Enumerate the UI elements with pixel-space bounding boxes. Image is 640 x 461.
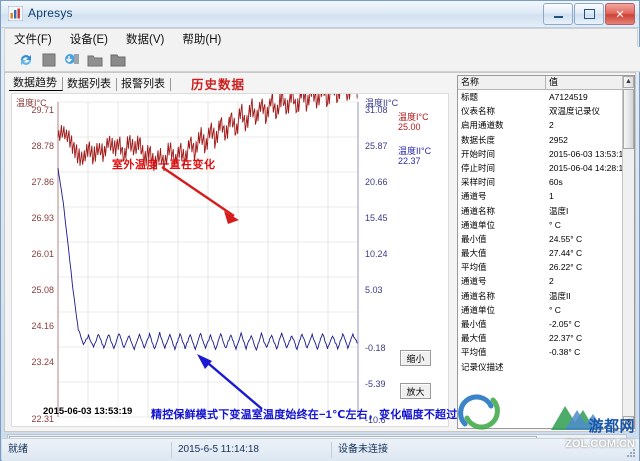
status-datetime: 2015-6-5 11:14:18 bbox=[172, 442, 332, 458]
table-row[interactable]: 通道号1 bbox=[458, 189, 634, 203]
window-title: Apresys bbox=[28, 6, 73, 20]
property-value: ° C bbox=[546, 303, 634, 317]
table-row[interactable]: 启用通道数2 bbox=[458, 118, 634, 132]
stop-icon[interactable] bbox=[34, 50, 52, 68]
property-name: 最小值 bbox=[458, 232, 546, 246]
property-value: 1 bbox=[546, 189, 634, 203]
property-value: 26.22° C bbox=[546, 260, 634, 274]
client-area: 数据趋势 数据列表 报警列表 历史数据 温度I°C 温度II°C 29.71 2… bbox=[4, 72, 636, 432]
menu-file[interactable]: 文件(F) bbox=[5, 29, 61, 49]
table-row[interactable]: 最大值27.44° C bbox=[458, 246, 634, 260]
property-value: 2 bbox=[546, 118, 634, 132]
table-row[interactable]: 数据长度2952 bbox=[458, 133, 634, 147]
close-button[interactable]: ✕ bbox=[605, 3, 635, 25]
menu-device[interactable]: 设备(E) bbox=[61, 29, 117, 49]
property-name: 停止时间 bbox=[458, 161, 546, 175]
property-value: 22.37° C bbox=[546, 331, 634, 345]
property-name: 通道号 bbox=[458, 189, 546, 203]
table-row[interactable]: 标题A7124519 bbox=[458, 90, 634, 104]
table-row[interactable]: 平均值26.22° C bbox=[458, 260, 634, 274]
property-value: 60s bbox=[546, 175, 634, 189]
property-grid-scrollbar[interactable]: ▲ ▼ bbox=[622, 76, 634, 428]
table-row[interactable]: 最大值22.37° C bbox=[458, 331, 634, 345]
minimize-icon bbox=[544, 4, 572, 24]
status-bar: 就绪 2015-6-5 11:14:18 设备未连接 bbox=[2, 438, 639, 461]
table-row[interactable]: 记录仪描述 bbox=[458, 360, 634, 374]
tab-data-trend[interactable]: 数据趋势 bbox=[9, 77, 63, 91]
property-grid-rows: 标题A7124519仪表名称双温度记录仪启用通道数2数据长度2952开始时间20… bbox=[458, 90, 634, 374]
property-name: 仪表名称 bbox=[458, 104, 546, 118]
status-ready: 就绪 bbox=[2, 442, 172, 458]
title-bar: Apresys ✕ bbox=[1, 1, 639, 28]
page-title: 历史数据 bbox=[191, 74, 245, 93]
property-grid[interactable]: 名称 值 标题A7124519仪表名称双温度记录仪启用通道数2数据长度2952开… bbox=[457, 75, 635, 429]
property-name: 平均值 bbox=[458, 260, 546, 274]
property-name: 最小值 bbox=[458, 317, 546, 331]
x-axis-start-timestamp: 2015-06-03 13:53:19 bbox=[43, 406, 132, 417]
property-name: 通道单位 bbox=[458, 303, 546, 317]
property-value: -2.05° C bbox=[546, 317, 634, 331]
table-row[interactable]: 通道单位° C bbox=[458, 218, 634, 232]
minimize-button[interactable] bbox=[543, 3, 573, 25]
column-header-value: 值 bbox=[546, 76, 634, 89]
property-value: 双温度记录仪 bbox=[546, 104, 634, 118]
property-name: 通道号 bbox=[458, 274, 546, 288]
property-name: 记录仪描述 bbox=[458, 360, 546, 374]
property-name: 通道名称 bbox=[458, 289, 546, 303]
tab-alarm-list[interactable]: 报警列表 bbox=[117, 78, 171, 91]
save-folder-icon[interactable] bbox=[103, 50, 121, 68]
column-header-name: 名称 bbox=[458, 76, 546, 89]
property-name: 最大值 bbox=[458, 331, 546, 345]
property-name: 启用通道数 bbox=[458, 118, 546, 132]
property-name: 数据长度 bbox=[458, 133, 546, 147]
tab-strip: 数据趋势 数据列表 报警列表 bbox=[9, 76, 171, 91]
watermark-brand: ZOL.COM.CN bbox=[565, 438, 635, 450]
chart-canvas[interactable]: 温度I°C 温度II°C 29.71 28.78 27.86 26.93 26.… bbox=[11, 93, 449, 427]
tab-data-list[interactable]: 数据列表 bbox=[63, 78, 117, 91]
table-row[interactable]: 通道单位° C bbox=[458, 303, 634, 317]
zoom-in-button[interactable]: 放大 bbox=[400, 383, 431, 399]
table-row[interactable]: 通道号2 bbox=[458, 274, 634, 288]
table-row[interactable]: 采样时间60s bbox=[458, 175, 634, 189]
watermark-text: 游都网 bbox=[588, 415, 635, 436]
chart-pane: 数据趋势 数据列表 报警列表 历史数据 温度I°C 温度II°C 29.71 2… bbox=[5, 73, 455, 431]
property-name: 通道单位 bbox=[458, 218, 546, 232]
table-row[interactable]: 最小值24.55° C bbox=[458, 232, 634, 246]
menu-bar: 文件(F) 设备(E) 数据(V) 帮助(H) bbox=[4, 28, 638, 48]
window-controls: ✕ bbox=[542, 3, 635, 24]
scrollbar-thumb[interactable] bbox=[623, 89, 634, 149]
annotation-red: 室外温度一直在变化 bbox=[112, 156, 216, 172]
property-value: 2015-06-03 13:53:19 bbox=[546, 147, 634, 161]
scroll-up-icon[interactable]: ▲ bbox=[623, 76, 634, 88]
table-row[interactable]: 开始时间2015-06-03 13:53:19 bbox=[458, 147, 634, 161]
property-value: -0.38° C bbox=[546, 345, 634, 359]
property-value: ° C bbox=[546, 218, 634, 232]
property-value: A7124519 bbox=[546, 90, 634, 104]
open-folder-icon[interactable] bbox=[80, 50, 98, 68]
annotation-blue: 精控保鲜模式下变温室温度始终在−1℃左右，变化幅度不超过0.5℃ bbox=[151, 406, 487, 422]
tool-bar bbox=[4, 47, 640, 72]
property-value: 2015-06-04 14:28:19 bbox=[546, 161, 634, 175]
maximize-icon bbox=[575, 4, 603, 24]
zoom-out-button[interactable]: 缩小 bbox=[400, 350, 431, 366]
menu-data[interactable]: 数据(V) bbox=[117, 29, 173, 49]
property-value: 温度II bbox=[546, 289, 634, 303]
property-name: 通道名称 bbox=[458, 204, 546, 218]
plot-area bbox=[12, 94, 448, 426]
property-name: 标题 bbox=[458, 90, 546, 104]
property-value bbox=[546, 360, 634, 374]
table-row[interactable]: 通道名称温度I bbox=[458, 204, 634, 218]
menu-help[interactable]: 帮助(H) bbox=[173, 29, 230, 49]
table-row[interactable]: 最小值-2.05° C bbox=[458, 317, 634, 331]
property-value: 2952 bbox=[546, 133, 634, 147]
maximize-button[interactable] bbox=[574, 3, 604, 25]
property-name: 平均值 bbox=[458, 345, 546, 359]
property-name: 最大值 bbox=[458, 246, 546, 260]
download-icon[interactable] bbox=[57, 50, 75, 68]
table-row[interactable]: 仪表名称双温度记录仪 bbox=[458, 104, 634, 118]
table-row[interactable]: 通道名称温度II bbox=[458, 289, 634, 303]
refresh-icon[interactable] bbox=[11, 50, 29, 68]
property-grid-header: 名称 值 bbox=[458, 76, 634, 90]
app-window: Apresys ✕ 文件(F) 设备(E) 数据(V) 帮助(H) bbox=[0, 0, 640, 461]
property-name: 开始时间 bbox=[458, 147, 546, 161]
property-name: 采样时间 bbox=[458, 175, 546, 189]
table-row[interactable]: 停止时间2015-06-04 14:28:19 bbox=[458, 161, 634, 175]
table-row[interactable]: 平均值-0.38° C bbox=[458, 345, 634, 359]
property-value: 24.55° C bbox=[546, 232, 634, 246]
chart-bars-icon bbox=[8, 6, 23, 21]
property-value: 2 bbox=[546, 274, 634, 288]
property-value: 27.44° C bbox=[546, 246, 634, 260]
property-value: 温度I bbox=[546, 204, 634, 218]
close-icon: ✕ bbox=[606, 4, 634, 24]
